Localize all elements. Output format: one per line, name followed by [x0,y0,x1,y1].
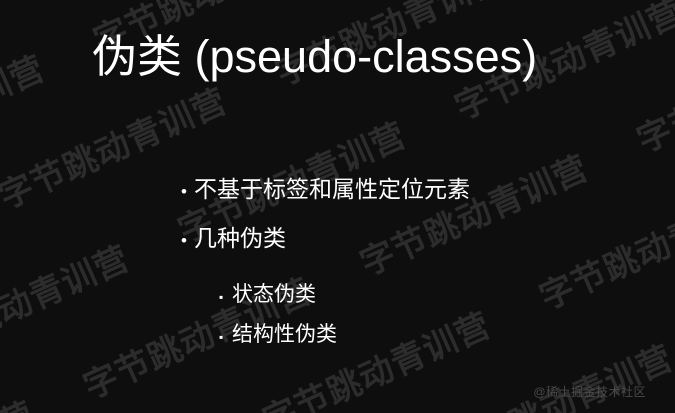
presentation-slide: 字节跳动青训营 字节跳动青训营 字节跳动青训营 字节跳动青训营 字节跳动青训营 … [0,0,675,413]
slide-title: 伪类 (pseudo-classes) [92,31,537,83]
list-item-label: 几种伪类 [194,227,286,250]
corner-watermark: @稀土掘金技术社区 [533,383,646,400]
slide-content: 伪类 (pseudo-classes) • 不基于标签和属性定位元素 • 几种伪… [0,0,675,413]
square-bullet-icon: ▪ [219,331,232,343]
list-item-label: 不基于标签和属性定位元素 [194,178,470,201]
sub-bullet-list: ▪ 状态伪类 ▪ 结构性伪类 [219,284,651,345]
list-item-label: 结构性伪类 [232,324,337,345]
list-item: • 不基于标签和属性定位元素 [181,178,651,201]
round-bullet-icon: • [181,232,194,249]
list-item-label: 状态伪类 [232,284,316,305]
list-item: • 几种伪类 [181,227,651,250]
square-bullet-icon: ▪ [219,291,232,303]
list-item: ▪ 结构性伪类 [219,324,651,345]
bullet-list: • 不基于标签和属性定位元素 • 几种伪类 ▪ 状态伪类 ▪ 结构性伪类 [181,178,651,364]
round-bullet-icon: • [181,183,194,200]
list-item: ▪ 状态伪类 [219,284,651,305]
